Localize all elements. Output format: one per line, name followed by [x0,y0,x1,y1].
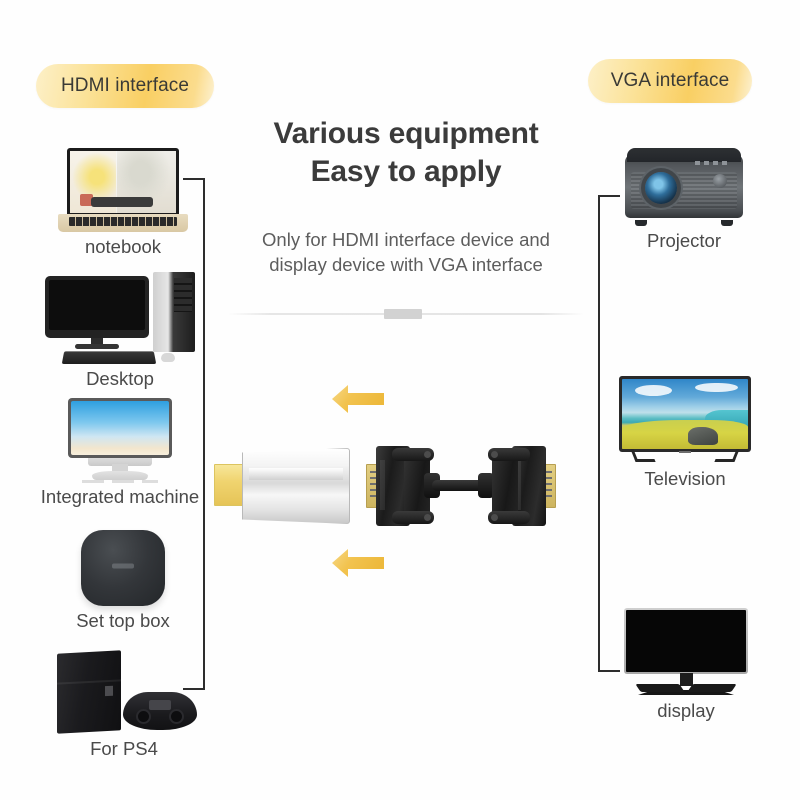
screen-grass [622,420,748,449]
tv-frame [619,376,751,452]
device-television: Television [600,376,770,490]
game-console-icon [51,648,197,734]
device-set-top-box: Set top box [48,530,198,632]
laptop-lid [67,148,179,216]
computer-tower [153,272,195,352]
tv-foot-left [630,449,655,462]
tv-foot-right [714,449,739,462]
projector-lens [645,172,677,204]
headline-line-1: Various equipment [200,115,612,153]
display-frame [624,608,748,674]
desktop-monitor [45,276,149,338]
screen-cloud [695,383,738,393]
device-label: Television [644,468,725,490]
display-base-wing-left [635,684,684,692]
monitor-screen [49,280,145,330]
device-all-in-one: Integrated machine [30,398,210,508]
infographic-canvas: HDMI interface VGA interface Various equ… [0,0,800,800]
set-top-box-body [81,530,165,606]
vga-thumbscrew-top [392,448,434,461]
screen-cloud [635,385,673,396]
hdmi-badge-label: HDMI interface [61,75,189,97]
gamepad [123,692,197,730]
vga-interface-badge: VGA interface [588,59,752,103]
desktop-computer-icon [45,272,195,364]
vga-backshell [492,454,518,518]
laptop-keyboard [69,217,177,226]
device-label: display [657,700,715,722]
laptop-icon [58,148,188,232]
tower-drive-bays [174,278,192,312]
set-top-box-icon [81,530,165,606]
flow-arrow-bottom-icon [331,546,385,580]
divider-center-block [384,309,422,319]
projector-sensor [713,174,727,188]
tv-screen [622,379,748,449]
screen-rock [688,427,718,445]
laptop-base [58,214,188,232]
monitor-foot [75,344,119,349]
hdmi-male-plug-contacts [214,464,246,506]
device-label: Integrated machine [41,486,199,508]
device-label: Set top box [76,610,170,632]
page-title: Various equipment Easy to apply [200,115,612,192]
console-logo [105,686,113,696]
vga-thumbscrew-top [488,448,530,461]
page-subtitle: Only for HDMI interface device and displ… [200,228,612,278]
device-projector: Projector [604,148,764,252]
display-screen [626,610,746,672]
device-ps4: For PS4 [44,648,204,760]
aio-frame [68,398,172,458]
vga-badge-label: VGA interface [611,70,730,92]
device-label: Desktop [86,368,154,390]
mouse [161,353,175,362]
device-notebook: notebook [48,148,198,258]
vga-thumbscrew-bottom [488,511,530,524]
television-icon [619,376,751,464]
hdmi-male-plug-shell [242,448,350,524]
console-body [57,650,121,733]
projector-indicator-lights [695,161,729,165]
gamepad-stick-left [138,711,149,722]
projector-icon [625,148,743,226]
hdmi-interface-badge: HDMI interface [36,64,214,108]
keyboard [62,351,156,364]
aio-screen [71,401,169,455]
projector-feet [635,220,733,226]
device-desktop: Desktop [40,272,200,390]
screen-photo-sofa [91,197,152,207]
device-display: display [606,608,766,722]
display-base-wing-right [687,684,736,692]
all-in-one-computer-icon [64,398,176,482]
gamepad-stick-right [171,711,182,722]
monitor-icon [624,608,748,696]
aio-accessories [82,480,158,483]
headline-line-2: Easy to apply [200,153,612,191]
vga-male-connector-right [484,440,556,532]
display-base [638,684,734,695]
subtitle-line-2: display device with VGA interface [200,253,612,278]
aio-stand [92,471,148,480]
device-label: notebook [85,236,161,258]
laptop-screen [70,151,176,213]
device-label: For PS4 [90,738,158,760]
subtitle-line-1: Only for HDMI interface device and [200,228,612,253]
tv-feet [627,449,743,463]
product-adapter-assembly [214,440,576,532]
flow-arrow-top-icon [331,382,385,416]
projector-top-panel [627,148,741,162]
device-label: Projector [647,230,721,252]
vga-thumbscrew-bottom [392,511,434,524]
